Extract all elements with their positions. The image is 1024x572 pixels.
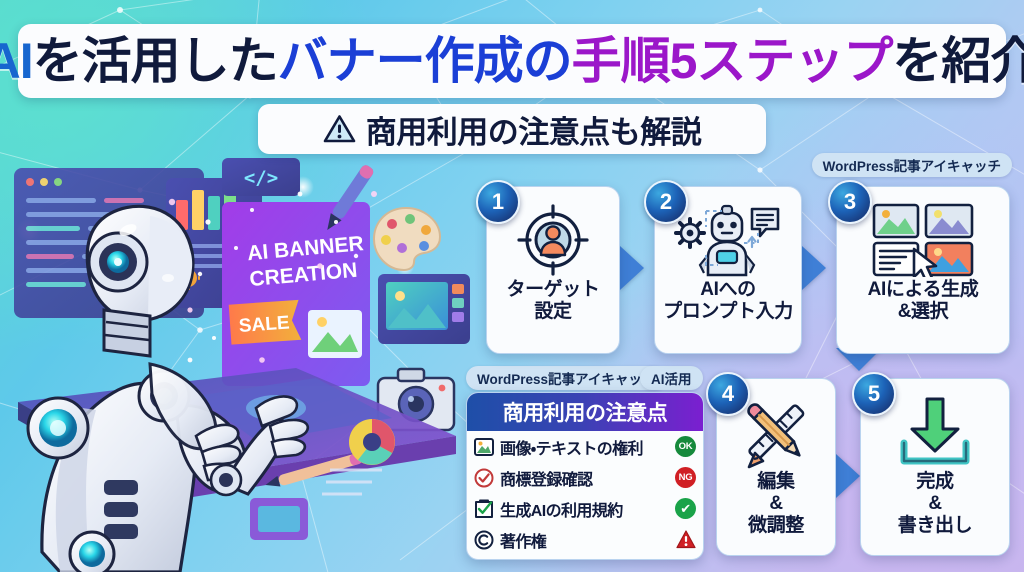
step-badge-4: 4: [706, 372, 750, 416]
svg-text:SALE: SALE: [238, 313, 290, 337]
step-badge-5: 5: [852, 372, 896, 416]
image-selection-icon: [870, 203, 976, 277]
image-icon: [474, 437, 494, 457]
step-card-2-caption: AIへのプロンプト入力: [659, 279, 797, 323]
arrow-step2-to-step3: [802, 246, 826, 290]
robot-designing-banner-illustration: </> AI BANNER CREATION SALE: [0, 150, 470, 572]
notes-row-1: 画像・テキストの権利 OK: [467, 431, 703, 462]
notes-row-3-label: 生成AIの利用規約: [500, 497, 669, 521]
ai-robot-prompt-icon: [674, 203, 782, 277]
notes-panel-header: 商用利用の注意点: [467, 393, 703, 431]
subtitle-banner: 商用利用の注意点も解説: [258, 104, 766, 154]
arrow-step4-to-step5: [836, 454, 860, 498]
step-card-4-caption: 編集&微調整: [744, 471, 808, 537]
notes-panel-title: 商用利用の注意点: [503, 397, 668, 427]
target-audience-icon: [516, 203, 590, 277]
red-warning-triangle-icon: [676, 530, 696, 549]
step-badge-1: 1: [476, 180, 520, 224]
notes-row-1-label: 画像・テキストの権利: [500, 435, 669, 459]
notes-row-3-status: ✔: [675, 498, 696, 519]
arrow-step1-to-step2: [620, 246, 644, 290]
title-segment-3: バナー作成の: [278, 33, 572, 89]
notes-row-4-status: [675, 529, 696, 550]
step-badge-2: 2: [644, 180, 688, 224]
clipboard-check-icon: [474, 499, 494, 519]
copyright-icon: [474, 530, 494, 550]
title-segment-4: 手順5ステップ: [572, 33, 893, 89]
pen-ruler-edit-icon: [739, 395, 813, 469]
commercial-use-notes-panel: 商用利用の注意点 画像・テキストの権利 OK 商標登録確認 NG: [466, 392, 704, 560]
trademark-check-icon: [474, 468, 494, 488]
step-card-5-caption: 完成&書き出し: [894, 471, 976, 537]
notes-row-1-status: OK: [675, 436, 696, 457]
chip-ai-usage: AI活用: [640, 366, 703, 390]
download-export-icon: [894, 395, 976, 469]
notes-row-2-status: NG: [675, 467, 696, 488]
title-segment-1: AI: [0, 33, 33, 89]
svg-text:</>: </>: [244, 167, 278, 189]
chip-wordpress-eyecatch-bottom: WordPress記事アイキャッチ: [466, 366, 666, 390]
step-card-1-caption: ターゲット設定: [502, 279, 603, 323]
notes-row-2: 商標登録確認 NG: [467, 462, 703, 493]
chip-wordpress-eyecatch-top: WordPress記事アイキャッチ: [812, 153, 1012, 177]
page-title-text: AIを活用したバナー作成の手順5ステップを紹介: [0, 36, 1024, 86]
step-card-3-caption: AIによる生成&選択: [864, 279, 983, 323]
notes-row-4: 著作権: [467, 524, 703, 555]
page-title: AIを活用したバナー作成の手順5ステップを紹介: [18, 24, 1006, 98]
notes-row-2-label: 商標登録確認: [500, 466, 669, 490]
notes-row-4-label: 著作権: [500, 528, 669, 552]
notes-row-3: 生成AIの利用規約 ✔: [467, 493, 703, 524]
subtitle-text: 商用利用の注意点も解説: [366, 107, 702, 152]
warning-triangle-icon: [323, 114, 356, 144]
step-badge-3: 3: [828, 180, 872, 224]
title-segment-5: を紹介: [892, 33, 1024, 89]
infographic-canvas: </> AI BANNER CREATION SALE: [0, 0, 1024, 572]
title-segment-2: を活用した: [33, 33, 278, 89]
